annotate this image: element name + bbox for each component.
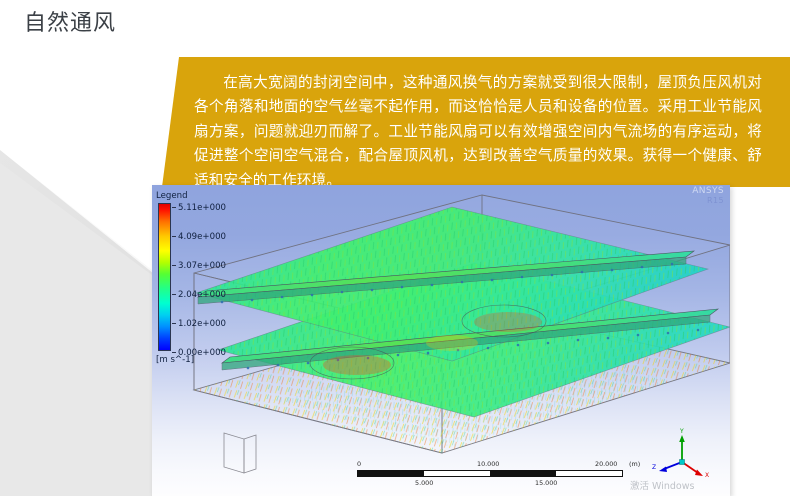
- scalebar-label-10: 10.000: [477, 460, 499, 468]
- scalebar-label-20: 20.000: [595, 460, 617, 468]
- axis-triad: Y Z X: [652, 428, 712, 480]
- scalebar-label-5: 5.000: [415, 479, 433, 487]
- legend-tick-label: 2.04e+000: [178, 290, 226, 300]
- scalebar-segment: [358, 471, 424, 476]
- axis-label-x: X: [705, 472, 709, 479]
- scalebar-unit: (m): [629, 460, 640, 468]
- colorbar-legend: Legend 5.11e+000 4.09e+000 3.07e+000 2.0…: [156, 191, 268, 359]
- axis-label-z: Z: [652, 464, 656, 471]
- page-title: 自然通风: [24, 9, 116, 39]
- scale-bar: 0 10.000 20.000 (m) 5.000 15.000: [357, 460, 627, 486]
- os-activation-watermark: 激活 Windows: [630, 478, 694, 492]
- legend-tick-list: 5.11e+000 4.09e+000 3.07e+000 2.04e+000 …: [172, 198, 266, 356]
- solver-watermark-version: R15: [692, 196, 724, 206]
- solver-watermark-name: ANSYS: [692, 186, 724, 196]
- legend-tick-label: 3.07e+000: [178, 261, 226, 271]
- scalebar-track: [357, 470, 623, 477]
- scalebar-label-0: 0: [357, 460, 361, 468]
- callout-body-text: 在高大宽阔的封闭空间中，这种通风换气的方案就受到很大限制，屋顶负压风机对各个角落…: [194, 71, 762, 193]
- scalebar-segment: [490, 471, 556, 476]
- legend-colorbar: [158, 203, 171, 351]
- axis-triad-icon: [652, 428, 712, 480]
- cfd-visualization-viewport: Legend 5.11e+000 4.09e+000 3.07e+000 2.0…: [152, 185, 730, 496]
- legend-tick-label: 5.11e+000: [178, 203, 226, 213]
- scalebar-label-15: 15.000: [535, 479, 557, 487]
- axis-label-y: Y: [680, 428, 684, 435]
- legend-tick-label: 1.02e+000: [178, 319, 226, 329]
- legend-tick-label: 4.09e+000: [178, 232, 226, 242]
- solver-watermark: ANSYS R15: [692, 186, 724, 206]
- slide-canvas: 自然通风 在高大宽阔的封闭空间中，这种通风换气的方案就受到很大限制，屋顶负压风机…: [0, 0, 790, 496]
- door-frame: [224, 433, 256, 473]
- callout-panel: 在高大宽阔的封闭空间中，这种通风换气的方案就受到很大限制，屋顶负压风机对各个角落…: [160, 57, 790, 187]
- legend-unit-label: [m s^-1]: [156, 355, 194, 365]
